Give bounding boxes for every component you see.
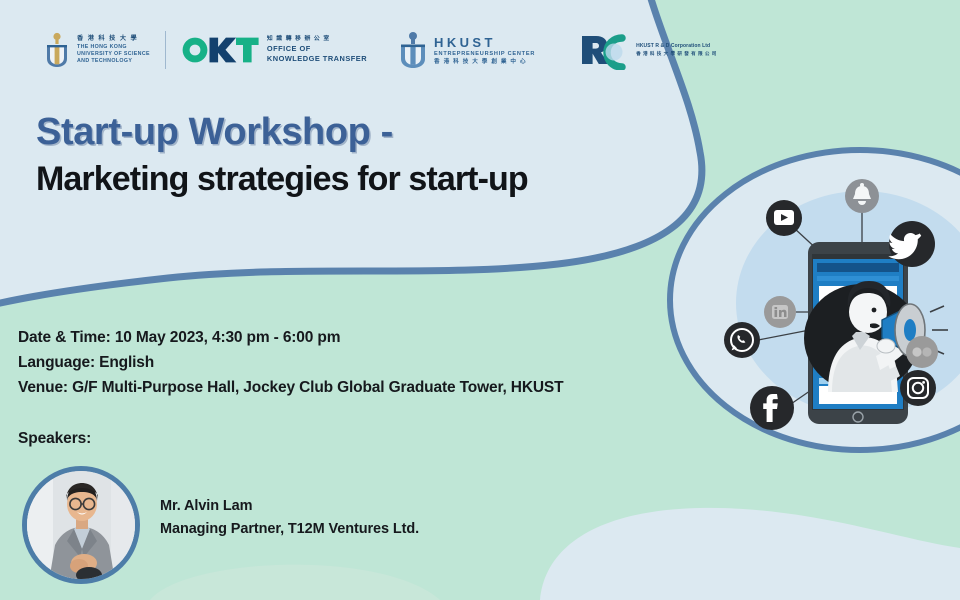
speaker-info: Mr. Alvin Lam Managing Partner, T12M Ven… xyxy=(160,495,419,542)
logo-hkust-university: 香 港 科 技 大 學 THE HONG KONG UNIVERSITY OF … xyxy=(44,32,150,68)
logo-ec-subtitle: ENTREPRENEURSHIP CENTER xyxy=(434,51,535,58)
title-line-1: Start-up Workshop - xyxy=(36,112,528,153)
social-media-marketing-illustration xyxy=(700,160,960,440)
hkust-shield-icon xyxy=(44,32,70,68)
logo-hkust-chinese: 香 港 科 技 大 學 xyxy=(77,35,150,42)
logo-hkust-line3: AND TECHNOLOGY xyxy=(77,58,150,64)
event-language: Language: English xyxy=(18,350,563,375)
logo-okt-chinese: 知 識 轉 移 辦 公 室 xyxy=(267,36,367,43)
logo-rdc-line1: HKUST R & D Corporation Ltd xyxy=(636,43,717,49)
speaker-name: Mr. Alvin Lam xyxy=(160,495,419,518)
facebook-icon xyxy=(750,386,794,430)
title-line-2: Marketing strategies for start-up xyxy=(36,160,528,199)
logo-okt-line2: KNOWLEDGE TRANSFER xyxy=(267,55,367,64)
event-venue: Venue: G/F Multi-Purpose Hall, Jockey Cl… xyxy=(18,375,563,400)
ec-shield-icon xyxy=(398,31,428,69)
logo-okt: 知 識 轉 移 辦 公 室 OFFICE OF KNOWLEDGE TRANSF… xyxy=(181,35,367,65)
speaker-role: Managing Partner, T12M Ventures Ltd. xyxy=(160,518,419,541)
logo-ec-mark: HKUST xyxy=(434,35,535,51)
whatsapp-icon xyxy=(724,322,760,358)
event-datetime: Date & Time: 10 May 2023, 4:30 pm - 6:00… xyxy=(18,325,563,350)
logo-rd-corporation: HKUST R & D Corporation Ltd 香 港 科 技 大 學 … xyxy=(578,30,717,70)
logo-bar: 香 港 科 技 大 學 THE HONG KONG UNIVERSITY OF … xyxy=(44,30,717,70)
notification-bell-icon xyxy=(845,179,879,213)
event-details: Date & Time: 10 May 2023, 4:30 pm - 6:00… xyxy=(18,325,563,400)
avatar xyxy=(22,466,140,584)
flickr-icon xyxy=(906,336,938,368)
instagram-icon xyxy=(900,370,936,406)
speakers-label: Speakers: xyxy=(18,430,91,448)
rdc-mark-icon xyxy=(578,30,632,70)
youtube-icon xyxy=(766,200,802,236)
linkedin-icon xyxy=(764,296,796,328)
logo-ec-chinese: 香 港 科 技 大 學 創 業 中 心 xyxy=(434,59,535,66)
logo-entrepreneurship-center: HKUST ENTREPRENEURSHIP CENTER 香 港 科 技 大 … xyxy=(398,31,535,69)
okt-wordmark-icon xyxy=(181,35,259,65)
logo-okt-line1: OFFICE OF xyxy=(267,45,367,54)
page-title: Start-up Workshop - Marketing strategies… xyxy=(36,112,528,199)
logo-hkust-line1: THE HONG KONG xyxy=(77,44,150,50)
logo-divider xyxy=(165,31,166,69)
logo-rdc-chinese: 香 港 科 技 大 學 研 發 有 限 公 司 xyxy=(636,51,717,57)
logo-hkust-line2: UNIVERSITY OF SCIENCE xyxy=(77,51,150,57)
speaker-portrait xyxy=(27,471,137,581)
poster-canvas: 香 港 科 技 大 學 THE HONG KONG UNIVERSITY OF … xyxy=(0,0,960,600)
